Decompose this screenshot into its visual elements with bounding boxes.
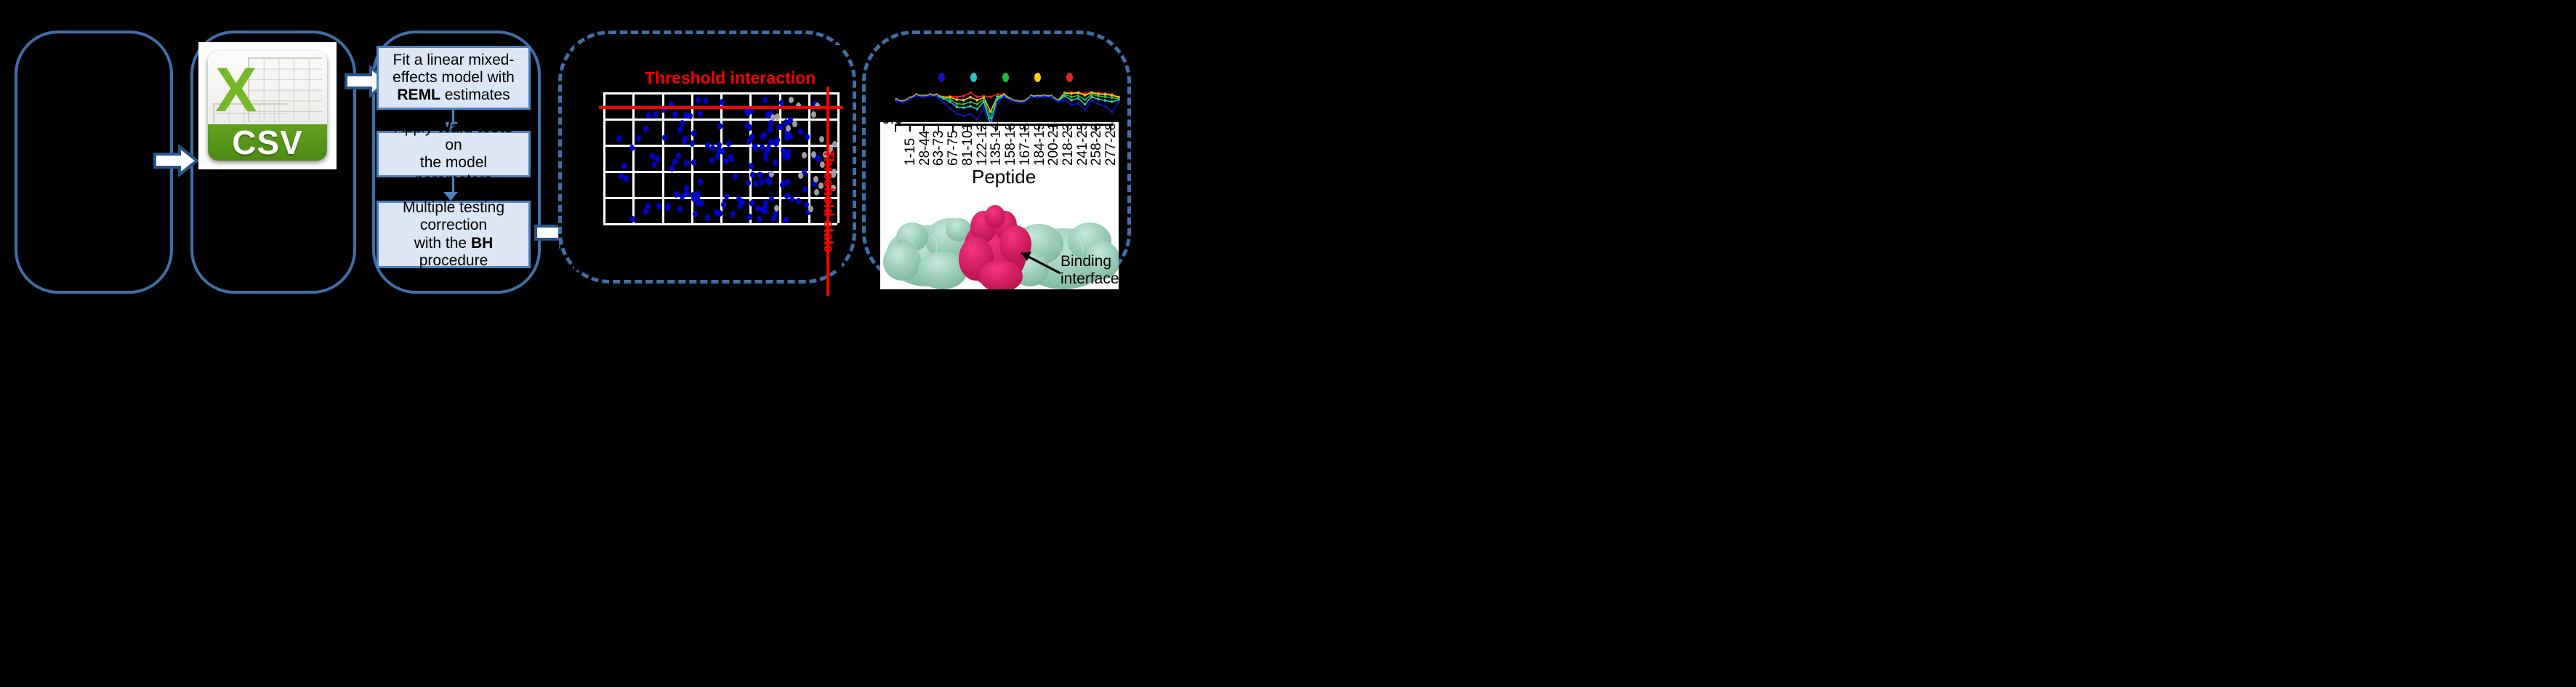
scatter-point-nonsignificant <box>814 189 819 196</box>
chart-point <box>1111 111 1114 113</box>
threshold-interaction-line <box>599 106 843 109</box>
legend-dot-yellow <box>1034 73 1041 82</box>
chart-point <box>962 99 965 102</box>
scatter-point-significant <box>630 216 635 222</box>
legend-dot-blue <box>938 73 945 82</box>
grid-line-horizontal <box>603 118 837 121</box>
scatter-point-significant <box>768 120 773 126</box>
scatter-point-significant <box>662 134 667 141</box>
scatter-point-significant <box>705 214 710 221</box>
scatter-point-significant <box>703 97 708 104</box>
csv-x-letter: X <box>215 59 257 121</box>
axis-tick-label: 277-284 <box>1103 122 1119 166</box>
scatter-point-nonsignificant <box>819 136 824 142</box>
axis-tick-label: 200-214 <box>1046 122 1062 166</box>
chart-point <box>976 103 979 106</box>
chart-point <box>969 113 972 116</box>
fit-model-box[interactable]: Fit a linear mixed-effects model withREM… <box>377 46 531 110</box>
chart-point <box>1090 95 1093 98</box>
axis-tick-label: 218-237 <box>1060 122 1076 166</box>
workflow-diagram: X CSV Fit a linear mixed-effects model w… <box>0 0 2576 687</box>
scatter-point-significant <box>698 111 703 117</box>
scatter-point-significant <box>676 153 681 159</box>
scatter-point-significant <box>729 156 734 162</box>
scatter-point-significant <box>749 200 754 206</box>
chart-point <box>1104 105 1107 108</box>
scatter-point-significant <box>705 142 710 148</box>
scatter-point-significant <box>733 173 738 180</box>
scatter-point-nonsignificant <box>792 121 797 127</box>
scatter-point-significant <box>760 144 765 150</box>
chart-point <box>1111 100 1114 103</box>
scatter-point-significant <box>624 175 629 182</box>
chart-point <box>1084 103 1087 106</box>
scatter-point-nonsignificant <box>786 125 791 132</box>
scatter-point-nonsignificant <box>808 206 813 212</box>
scatter-point-significant <box>753 180 758 187</box>
scatter-point-significant <box>691 159 696 166</box>
binding-interface-label: Binding interface <box>1060 253 1119 288</box>
chart-point <box>1057 100 1060 103</box>
scatter-point-significant <box>784 193 789 199</box>
input-panel <box>15 31 173 294</box>
grid-line-horizontal <box>603 197 837 199</box>
axis-tick-label: 81-101 <box>960 123 976 166</box>
scatter-point-significant <box>764 150 769 156</box>
y-axis-label: 0.0 <box>882 122 903 128</box>
chart-point <box>956 95 959 98</box>
scatter-point-significant <box>730 211 736 217</box>
scatter-point-significant <box>721 201 726 208</box>
scatter-point-significant <box>684 190 689 197</box>
bh-correction-box[interactable]: Multiple testingcorrectionwith the BH pr… <box>377 201 531 268</box>
x-axis-label: Peptide <box>972 166 1036 188</box>
chart-point <box>1097 95 1100 97</box>
scatter-point-significant <box>645 203 651 209</box>
chart-point <box>969 92 972 95</box>
chart-point <box>989 111 992 113</box>
chart-point <box>1097 103 1100 106</box>
chart-point <box>1063 95 1066 97</box>
csv-caption: CSV <box>232 123 303 161</box>
chart-point <box>1111 94 1114 97</box>
scatter-point-nonsignificant <box>813 176 818 182</box>
axis-tick <box>909 124 911 132</box>
scatter-point-significant <box>786 149 791 156</box>
chart-point <box>1070 104 1073 107</box>
chart-point <box>1043 95 1046 98</box>
chart-point <box>1077 102 1080 105</box>
chart-point <box>989 95 992 98</box>
chart-point <box>956 105 959 108</box>
chart-point <box>1063 99 1066 102</box>
scatter-point-significant <box>749 134 754 140</box>
chart-point <box>996 101 999 104</box>
scatter-point-significant <box>755 205 760 212</box>
scatter-point-significant <box>736 196 741 202</box>
chart-point <box>983 107 986 110</box>
scatter-point-significant <box>762 132 767 138</box>
scatter-point-nonsignificant <box>769 171 774 177</box>
scatter-point-nonsignificant <box>832 141 837 148</box>
wald-tests-box[interactable]: Apply Wald tests onthe model parameters <box>377 131 531 177</box>
grid-line-vertical <box>837 92 840 223</box>
chart-point <box>956 103 959 105</box>
scatter-point-significant <box>653 111 658 118</box>
chart-point <box>902 101 905 104</box>
chart-point <box>1090 93 1093 96</box>
scatter-point-significant <box>720 148 725 155</box>
scatter-point-significant <box>643 209 648 215</box>
chart-point <box>996 93 999 96</box>
chart-point <box>969 96 972 99</box>
chart-point <box>949 107 951 110</box>
scatter-point-significant <box>773 211 778 217</box>
legend-dot-cyan <box>970 73 977 82</box>
scatter-point-nonsignificant <box>811 151 816 158</box>
scatter-point-significant <box>762 97 768 103</box>
scatter-point-significant <box>778 124 784 130</box>
threshold-interaction-label: Threshold interaction <box>645 68 816 88</box>
scatter-point-significant <box>749 163 754 169</box>
chart-point <box>956 98 959 101</box>
scatter-point-significant <box>796 198 801 204</box>
scatter-point-significant <box>789 196 794 202</box>
scatter-point-nonsignificant <box>811 111 816 118</box>
chart-point <box>962 95 965 97</box>
chart-point <box>962 107 965 110</box>
scatter-point-significant <box>669 165 675 172</box>
chart-point <box>976 108 979 111</box>
chart-point <box>1070 99 1073 102</box>
scatter-point-significant <box>738 203 743 209</box>
chart-point <box>1077 95 1080 97</box>
chart-point <box>956 113 959 116</box>
scatter-point-significant <box>785 179 790 185</box>
chart-point <box>962 103 965 106</box>
scatter-point-significant <box>720 99 725 105</box>
grid-line-vertical <box>691 92 693 223</box>
chart-point <box>1104 95 1107 98</box>
chart-point <box>996 98 999 101</box>
legend-dot-red <box>1066 73 1073 82</box>
chart-point <box>1037 96 1039 99</box>
scatter-point-significant <box>784 217 789 223</box>
scatter-point-significant <box>710 145 715 151</box>
scatter-point-significant <box>798 129 803 135</box>
axis-tick-label: 1-15 <box>903 138 919 166</box>
chart-point <box>942 101 945 104</box>
chart-point <box>1084 98 1087 101</box>
scatter-point-significant <box>765 112 770 118</box>
scatter-point-significant <box>643 126 648 132</box>
chart-point <box>1030 96 1033 99</box>
scatter-point-significant <box>684 160 689 166</box>
chart-point <box>1010 99 1013 102</box>
scatter-point-significant <box>636 135 641 142</box>
scatter-point-significant <box>696 97 701 103</box>
scatter-point-significant <box>715 153 720 160</box>
scatter-point-significant <box>757 172 762 178</box>
chart-point <box>976 118 979 121</box>
scatter-point-significant <box>696 190 701 197</box>
chart-point <box>909 98 911 101</box>
chart-point <box>1104 93 1107 96</box>
chart-point <box>1077 97 1080 100</box>
chart-point <box>1090 100 1093 103</box>
chart-point <box>1077 92 1080 95</box>
scatter-point-significant <box>724 193 729 200</box>
chart-point <box>1111 97 1114 100</box>
chart-point <box>922 96 925 99</box>
scatter-point-significant <box>767 179 772 185</box>
chart-point <box>969 101 972 104</box>
scatter-point-significant <box>691 196 696 202</box>
chart-point <box>1070 92 1073 95</box>
chart-point <box>935 95 938 98</box>
chart-point <box>1097 98 1100 101</box>
chart-point <box>949 100 951 103</box>
chart-legend <box>890 73 1123 86</box>
peptide-axis-and-structure-card: 1-1528-4463-7367-7581-101122-129135-1441… <box>880 122 1119 289</box>
scatter-point-significant <box>680 120 685 126</box>
chart-point <box>1023 101 1026 104</box>
scatter-point-significant <box>802 186 808 193</box>
block-arrow-right-icon <box>153 145 198 177</box>
scatter-point-significant <box>665 204 670 211</box>
scatter-point-significant <box>672 111 677 118</box>
axis-tick-label: 158-166 <box>1003 122 1019 166</box>
scatter-point-significant <box>699 200 704 206</box>
scatter-point-significant <box>753 145 758 151</box>
axis-tick-label: 167-180 <box>1018 122 1034 166</box>
scatter-point-significant <box>677 126 683 133</box>
chart-point <box>895 100 898 103</box>
scatter-point-significant <box>784 134 789 141</box>
grid-line-horizontal <box>603 92 837 95</box>
scatter-point-significant <box>747 214 752 220</box>
threshold-state-label: Threshold state <box>820 150 836 252</box>
scatter-point-significant <box>655 156 660 162</box>
scatter-point-significant <box>759 179 764 185</box>
scatter-point-significant <box>698 179 703 185</box>
grid-line-vertical <box>632 92 635 223</box>
scatter-point-significant <box>723 158 728 164</box>
chart-point <box>976 95 979 98</box>
chart-point <box>1050 96 1053 99</box>
scatter-point-significant <box>750 172 755 178</box>
csv-file-icon: X CSV <box>198 42 337 169</box>
scatter-point-significant <box>682 138 687 145</box>
chart-point <box>1117 100 1120 103</box>
chart-point <box>1084 108 1087 111</box>
scatter-point-nonsignificant <box>789 97 794 103</box>
chart-point <box>962 115 965 118</box>
grid-line-horizontal <box>603 223 837 225</box>
scatter-point-significant <box>781 180 786 187</box>
chart-point <box>949 98 951 101</box>
chart-point <box>942 97 945 100</box>
scatter-point-significant <box>757 216 762 222</box>
chart-point <box>1003 95 1006 98</box>
axis-tick-label: 67-75 <box>946 130 962 166</box>
chart-point <box>1084 94 1087 97</box>
scatter-point-significant <box>714 209 719 216</box>
scatter-point-significant <box>646 112 651 118</box>
scatter-point-significant <box>773 159 778 166</box>
fit-model-text: Fit a linear mixed-effects model withREM… <box>393 52 515 104</box>
chart-point <box>976 99 979 102</box>
scatter-point-significant <box>656 203 661 209</box>
scatter-point-nonsignificant <box>802 152 807 158</box>
chart-point <box>1104 99 1107 102</box>
scatter-point-significant <box>762 208 768 214</box>
chart-point <box>1070 95 1073 98</box>
scatter-point-significant <box>677 206 683 212</box>
scatter-point-significant <box>726 140 731 147</box>
scatter-point-significant <box>693 211 698 217</box>
scatter-point-significant <box>652 161 657 168</box>
chart-point <box>983 100 986 103</box>
grid-line-vertical <box>779 92 781 223</box>
chart-point <box>1016 101 1019 104</box>
scatter-point-nonsignificant <box>774 205 779 212</box>
scatter-point-significant <box>768 126 773 133</box>
bh-correction-text: Multiple testingcorrectionwith the BH pr… <box>385 199 523 270</box>
scatter-point-significant <box>690 140 695 147</box>
scatter-point-significant <box>672 158 677 165</box>
scatter-point-significant <box>773 140 778 147</box>
grid-line-vertical <box>603 92 605 223</box>
scatter-point-significant <box>769 196 774 202</box>
scatter-point-significant <box>691 130 696 137</box>
scatter-point-significant <box>709 157 715 164</box>
scatter-point-significant <box>621 163 627 169</box>
chart-point <box>915 95 918 97</box>
scatter-point-nonsignificant <box>798 172 803 179</box>
scatter-point-nonsignificant <box>775 113 780 120</box>
chart-point <box>969 105 972 108</box>
threshold-scatter-plot: Threshold interaction Threshold state <box>574 45 842 270</box>
chart-point <box>929 95 932 97</box>
scatter-point-significant <box>746 110 751 116</box>
scatter-point-significant <box>616 135 621 142</box>
legend-dot-green <box>1002 73 1009 82</box>
scatter-point-significant <box>717 123 723 129</box>
